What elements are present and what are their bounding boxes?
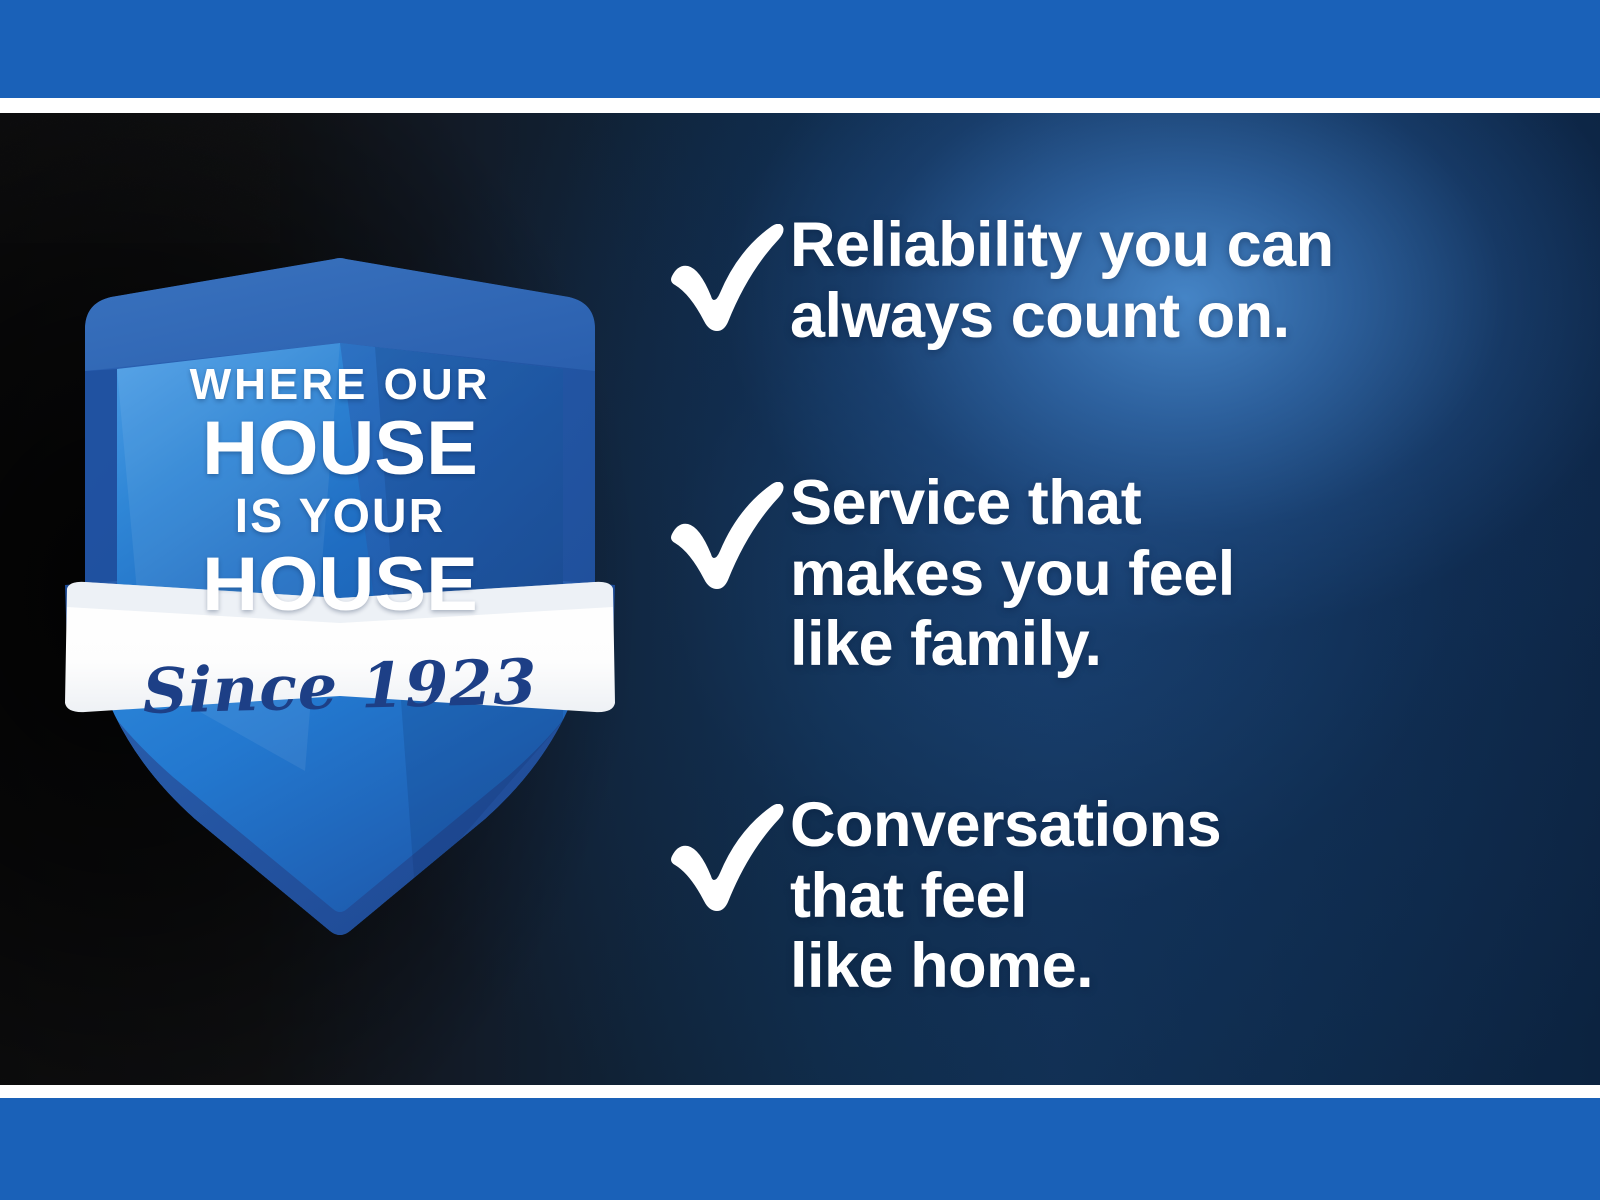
badge-line-4: HOUSE — [49, 547, 630, 623]
bottom-brand-bar — [0, 1098, 1600, 1200]
benefit-text: Conversations that feel like home. — [790, 790, 1528, 1002]
benefit-item: Service that makes you feel like family. — [668, 468, 1528, 680]
benefit-item: Conversations that feel like home. — [668, 790, 1528, 1002]
benefit-line: always count on. — [790, 281, 1528, 352]
benefit-line: Reliability you can — [790, 210, 1528, 281]
check-icon — [668, 482, 786, 590]
main-panel: WHERE OUR HOUSE IS YOUR HOUSE Since 1923… — [0, 113, 1600, 1085]
benefit-text: Reliability you can always count on. — [790, 210, 1528, 351]
benefit-line: Conversations — [790, 790, 1528, 861]
grain-texture — [0, 113, 280, 243]
promo-graphic: WHERE OUR HOUSE IS YOUR HOUSE Since 1923… — [0, 0, 1600, 1200]
badge-line-3: IS YOUR — [55, 493, 625, 541]
benefit-item: Reliability you can always count on. — [668, 210, 1528, 351]
top-brand-bar — [0, 0, 1600, 98]
benefit-line: makes you feel — [790, 539, 1528, 610]
check-icon-wrap — [668, 790, 790, 912]
badge-line-1: WHERE OUR — [55, 363, 625, 407]
check-icon — [668, 224, 786, 332]
benefit-line: Service that — [790, 468, 1528, 539]
shield-badge: WHERE OUR HOUSE IS YOUR HOUSE Since 1923 — [55, 251, 625, 931]
benefit-line: like family. — [790, 609, 1528, 680]
benefit-text: Service that makes you feel like family. — [790, 468, 1528, 680]
check-icon — [668, 804, 786, 912]
check-icon-wrap — [668, 468, 790, 590]
benefit-line: like home. — [790, 931, 1528, 1002]
badge-line-2: HOUSE — [49, 411, 630, 487]
check-icon-wrap — [668, 210, 790, 332]
benefit-line: that feel — [790, 861, 1528, 932]
